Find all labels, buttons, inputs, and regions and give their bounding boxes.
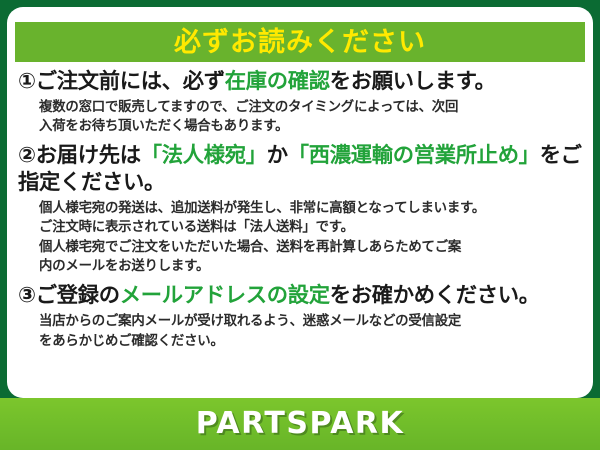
notice-title-band: 必ずお読みください <box>15 22 585 62</box>
item-1-headline-part2: をお願いします。 <box>330 69 496 94</box>
notice-body: ①ご注文前には、必ず在庫の確認をお願いします。 複数の窓口で販売してますので、ご… <box>7 69 593 351</box>
item-1-subtext: 複数の窓口で販売してますので、ご注文のタイミングによっては、次回 入荷をお待ち頂… <box>18 98 583 137</box>
item-2-marker: ② <box>18 143 36 168</box>
item-1-subtext-line-1: 複数の窓口で販売してますので、ご注文のタイミングによっては、次回 <box>39 98 583 117</box>
item-2-headline-part2: か <box>267 143 288 168</box>
item-1-headline-part1: ご注文前には、必ず <box>36 69 225 94</box>
item-3-headline-part2: をお確かめください。 <box>330 283 540 308</box>
item-3-headline-part1: ご登録の <box>36 283 120 308</box>
item-3-subtext: 当店からのご案内メールが受け取れるよう、迷惑メールなどの受信設定 をあらかじめご… <box>18 312 583 351</box>
notice-item-1: ①ご注文前には、必ず在庫の確認をお願いします。 複数の窓口で販売してますので、ご… <box>18 69 583 136</box>
item-2-subtext: 個人様宅宛の発送は、追加送料が発生し、非常に高額となってしまいます。 ご注文時に… <box>18 199 583 277</box>
item-2-headline: ②お届け先は「法人様宛」か「西濃運輸の営業所止め」をご指定ください。 <box>18 143 583 196</box>
item-1-headline: ①ご注文前には、必ず在庫の確認をお願いします。 <box>18 69 583 96</box>
notice-panel: 必ずお読みください ①ご注文前には、必ず在庫の確認をお願いします。 複数の窓口で… <box>7 7 593 398</box>
item-1-headline-highlight: 在庫の確認 <box>225 69 330 94</box>
item-2-subtext-line-4: 内のメールをお送りします。 <box>39 257 583 276</box>
item-2-headline-highlight-1: 「法人様宛」 <box>141 143 267 168</box>
item-1-marker: ① <box>18 69 36 94</box>
notice-item-2: ②お届け先は「法人様宛」か「西濃運輸の営業所止め」をご指定ください。 個人様宅宛… <box>18 143 583 276</box>
item-3-subtext-line-2: をあらかじめご確認ください。 <box>39 332 583 351</box>
brand-name: PARTSPARK <box>196 409 405 439</box>
item-2-subtext-line-2: ご注文時に表示されている送料は「法人送料」です。 <box>39 218 583 237</box>
item-3-headline: ③ご登録のメールアドレスの設定をお確かめください。 <box>18 283 583 310</box>
item-2-headline-highlight-2: 「西濃運輸の営業所止め」 <box>288 143 540 168</box>
item-3-subtext-line-1: 当店からのご案内メールが受け取れるよう、迷惑メールなどの受信設定 <box>39 312 583 331</box>
item-2-subtext-line-1: 個人様宅宛の発送は、追加送料が発生し、非常に高額となってしまいます。 <box>39 199 583 218</box>
notice-card: 必ずお読みください ①ご注文前には、必ず在庫の確認をお願いします。 複数の窓口で… <box>0 0 600 450</box>
item-1-subtext-line-2: 入荷をお待ち頂いただく場合もあります。 <box>39 117 583 136</box>
item-2-headline-part1: お届け先は <box>36 143 141 168</box>
item-3-marker: ③ <box>18 283 36 308</box>
notice-item-3: ③ご登録のメールアドレスの設定をお確かめください。 当店からのご案内メールが受け… <box>18 283 583 350</box>
item-2-subtext-line-3: 個人様宅宛でご注文をいただいた場合、送料を再計算しあらためてご案 <box>39 238 583 257</box>
notice-title: 必ずお読みください <box>174 29 426 56</box>
item-3-headline-highlight: メールアドレスの設定 <box>120 283 330 308</box>
footer-band: PARTSPARK <box>0 398 600 450</box>
